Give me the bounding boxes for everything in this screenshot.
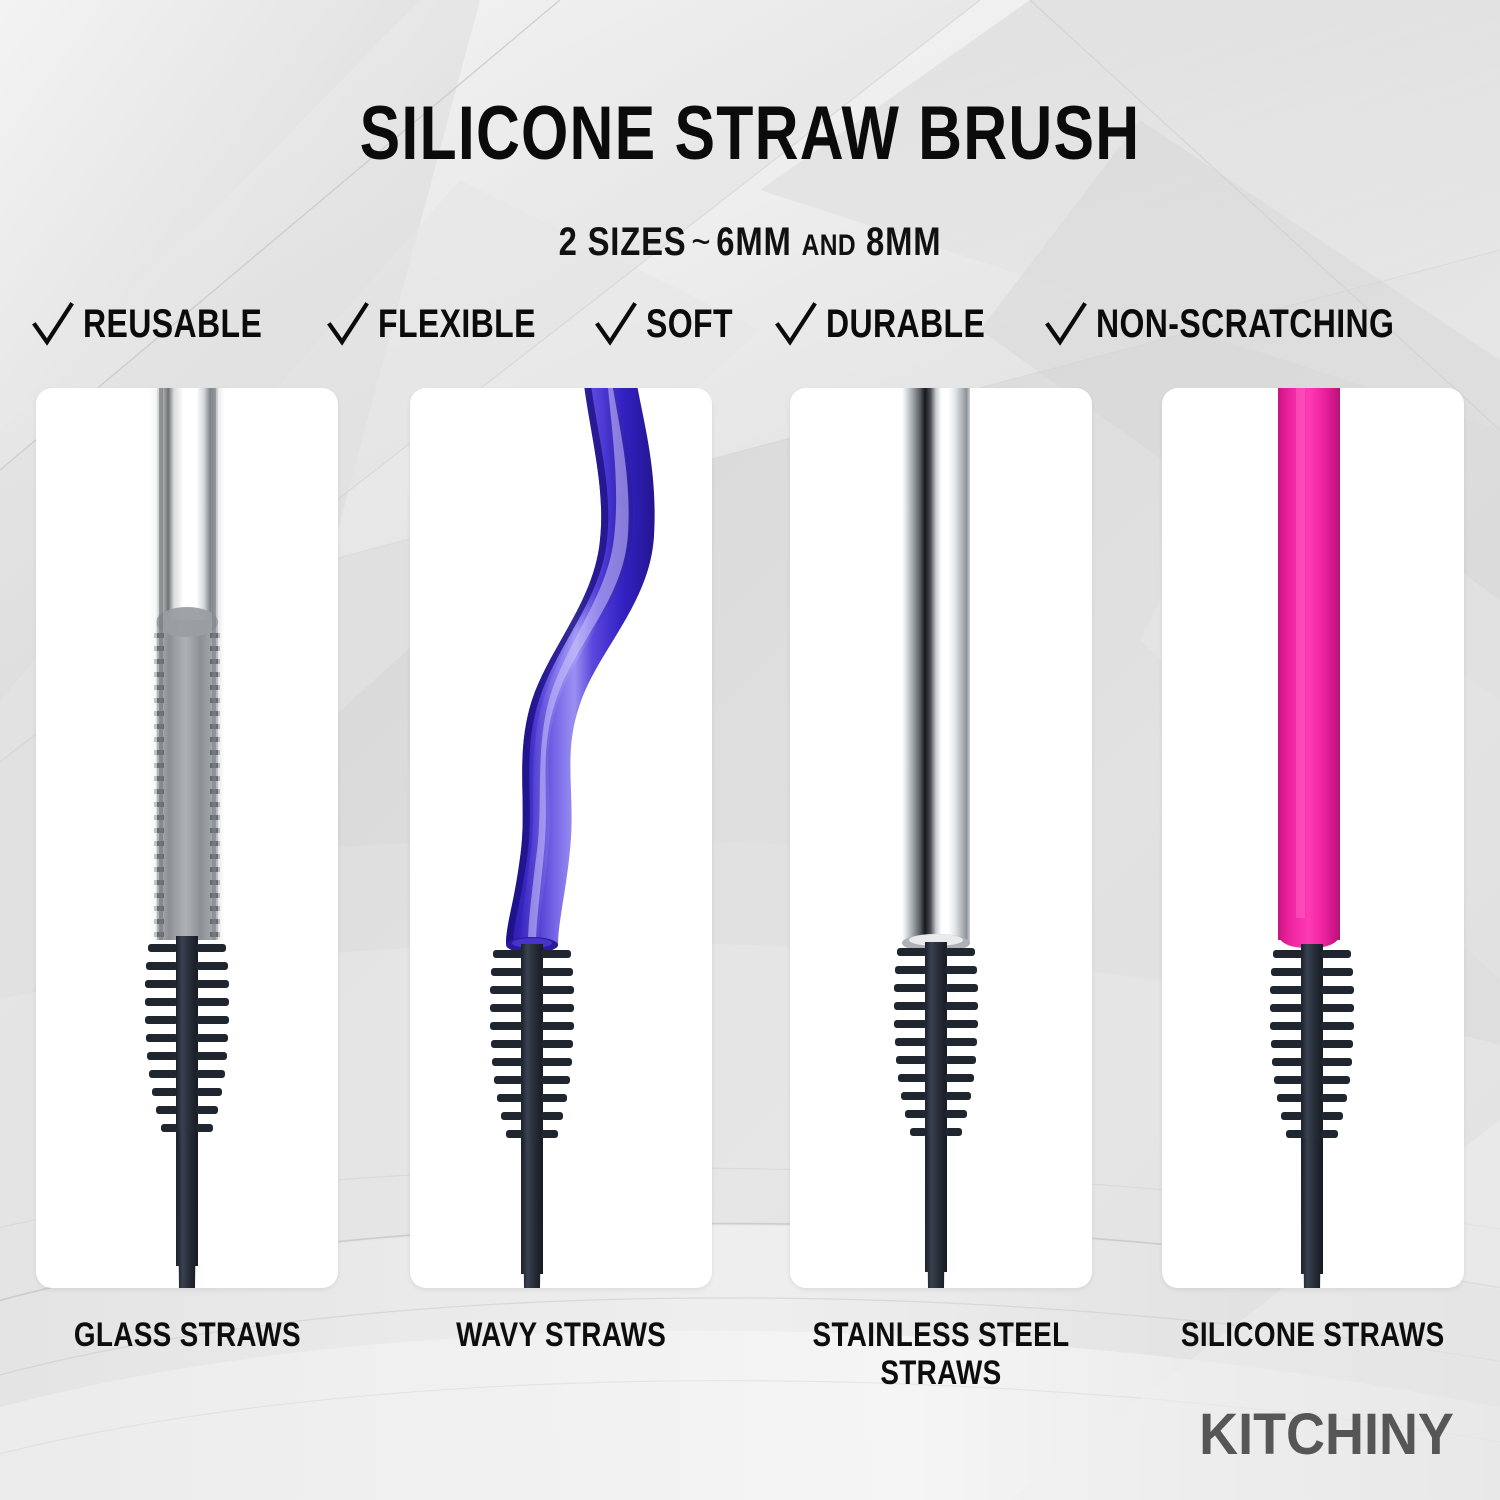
product-panel-stainless-steel-straws[interactable] bbox=[790, 388, 1092, 1288]
panel-caption-stainless: STAINLESS STEEL STRAWS bbox=[770, 1316, 1112, 1393]
feature-item-non-scratching: NON-SCRATCHING bbox=[1045, 301, 1469, 347]
subtitle: 2 SIZES~6MM AND 8MM bbox=[135, 222, 1365, 262]
panel-caption-wavy: WAVY STRAWS bbox=[390, 1316, 732, 1354]
check-icon bbox=[775, 301, 817, 347]
subtitle-size-2: 8MM bbox=[866, 220, 941, 264]
feature-label: DURABLE bbox=[826, 304, 985, 344]
subtitle-separator: ~ bbox=[686, 220, 716, 264]
panel-caption-glass: GLASS STRAWS bbox=[16, 1316, 358, 1354]
feature-label: SOFT bbox=[646, 304, 733, 344]
feature-label: NON-SCRATCHING bbox=[1096, 304, 1394, 344]
feature-list: REUSABLE FLEXIBLE SOFT DURABLE NON-SCRAT… bbox=[0, 296, 1500, 352]
page-title: SILICONE STRAW BRUSH bbox=[150, 96, 1350, 172]
feature-label: FLEXIBLE bbox=[378, 304, 536, 344]
brand-logo: KITCHINY bbox=[1199, 1406, 1454, 1464]
product-panel-wavy-straws[interactable] bbox=[410, 388, 712, 1288]
subtitle-sizes: 2 SIZES bbox=[559, 220, 687, 264]
subtitle-size-1: 6MM bbox=[716, 220, 791, 264]
feature-item-flexible: FLEXIBLE bbox=[327, 301, 575, 347]
feature-item-durable: DURABLE bbox=[775, 301, 1025, 347]
panel-caption-silicone: SILICONE STRAWS bbox=[1142, 1316, 1484, 1354]
feature-label: REUSABLE bbox=[83, 304, 262, 344]
product-panel-glass-straws[interactable] bbox=[36, 388, 338, 1288]
check-icon bbox=[595, 301, 637, 347]
check-icon bbox=[1045, 301, 1087, 347]
check-icon bbox=[32, 301, 74, 347]
feature-item-soft: SOFT bbox=[595, 301, 755, 347]
feature-item-reusable: REUSABLE bbox=[32, 301, 307, 347]
infographic-canvas: SILICONE STRAW BRUSH 2 SIZES~6MM AND 8MM… bbox=[0, 0, 1500, 1500]
subtitle-conjunction: AND bbox=[802, 229, 857, 262]
check-icon bbox=[327, 301, 369, 347]
product-panel-silicone-straws[interactable] bbox=[1162, 388, 1464, 1288]
